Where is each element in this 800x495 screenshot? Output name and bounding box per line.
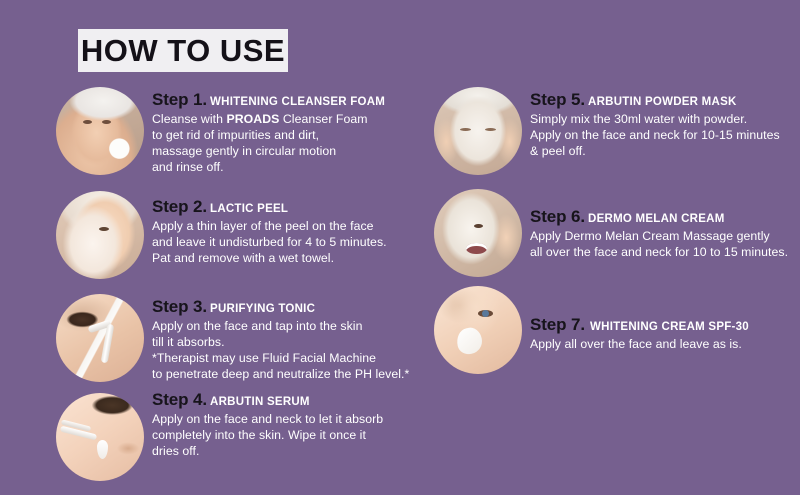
- step-7-photo: [434, 286, 522, 374]
- serum-drop-detail: [97, 440, 108, 459]
- step-6-description: Apply Dermo Melan Cream Massage gentlyal…: [530, 228, 800, 260]
- eye-detail: [83, 120, 92, 124]
- eye-detail: [99, 227, 109, 231]
- step-1-description: Cleanse with PROADS Cleanser Foamto get …: [152, 111, 452, 176]
- eye-detail: [474, 224, 483, 228]
- step-1-text: Step 1.WHITENING CLEANSER FOAM Cleanse w…: [152, 91, 452, 176]
- page-title-box: HOW TO USE: [78, 29, 288, 72]
- step-6-label: Step 6.: [530, 207, 585, 226]
- step-5-label: Step 5.: [530, 90, 585, 109]
- step-1-label: Step 1.: [152, 90, 207, 109]
- step-7-heading: Step 7.WHITENING CREAM SPF-30: [530, 316, 800, 335]
- step-3-product: PURIFYING TONIC: [210, 303, 315, 315]
- step-5-text: Step 5.ARBUTIN POWDER MASK Simply mix th…: [530, 91, 800, 159]
- step-1-photo: [56, 87, 144, 175]
- step-2-text: Step 2.LACTIC PEEL Apply a thin layer of…: [152, 198, 462, 266]
- mouth-detail: [466, 243, 487, 254]
- step-3-heading: Step 3.PURIFYING TONIC: [152, 298, 472, 317]
- iris-detail: [482, 310, 489, 317]
- cream-dollop-detail: [454, 326, 484, 357]
- step-2-photo: [56, 191, 144, 279]
- step-6-text: Step 6.DERMO MELAN CREAM Apply Dermo Mel…: [530, 208, 800, 260]
- step-7-label: Step 7.: [530, 315, 585, 334]
- step-1-product: WHITENING CLEANSER FOAM: [210, 96, 385, 108]
- step-3-label: Step 3.: [152, 297, 207, 316]
- step-2-product: LACTIC PEEL: [210, 203, 288, 215]
- step-3-description: Apply on the face and tap into the skint…: [152, 318, 472, 383]
- eye-detail: [102, 120, 111, 124]
- eye-detail: [460, 128, 471, 131]
- step-1-heading: Step 1.WHITENING CLEANSER FOAM: [152, 91, 452, 110]
- page-title: HOW TO USE: [81, 35, 285, 66]
- step-4-heading: Step 4.ARBUTIN SERUM: [152, 391, 462, 410]
- step-2-heading: Step 2.LACTIC PEEL: [152, 198, 462, 217]
- step-4-product: ARBUTIN SERUM: [210, 396, 310, 408]
- step-3-text: Step 3.PURIFYING TONIC Apply on the face…: [152, 298, 472, 383]
- step-7-text: Step 7.WHITENING CREAM SPF-30 Apply all …: [530, 316, 800, 352]
- dropper-detail: [101, 324, 115, 363]
- step-4-label: Step 4.: [152, 390, 207, 409]
- step-2-label: Step 2.: [152, 197, 207, 216]
- step-7-description: Apply all over the face and leave as is.: [530, 336, 800, 352]
- step-6-product: DERMO MELAN CREAM: [588, 213, 725, 225]
- step-3-photo: [56, 294, 144, 382]
- eye-detail: [485, 128, 496, 131]
- step-7-product: WHITENING CREAM SPF-30: [590, 321, 749, 333]
- step-4-photo: [56, 393, 144, 481]
- step-6-heading: Step 6.DERMO MELAN CREAM: [530, 208, 800, 227]
- step-6-photo: [434, 189, 522, 277]
- step-5-description: Simply mix the 30ml water with powder.Ap…: [530, 111, 800, 160]
- step-4-description: Apply on the face and neck to let it abs…: [152, 411, 462, 460]
- how-to-use-infographic: { "title": "HOW TO USE", "theme": { "bac…: [0, 0, 800, 495]
- step-2-description: Apply a thin layer of the peel on the fa…: [152, 218, 462, 267]
- step-5-heading: Step 5.ARBUTIN POWDER MASK: [530, 91, 800, 110]
- step-5-product: ARBUTIN POWDER MASK: [588, 96, 737, 108]
- step-4-text: Step 4.ARBUTIN SERUM Apply on the face a…: [152, 391, 462, 459]
- step-5-photo: [434, 87, 522, 175]
